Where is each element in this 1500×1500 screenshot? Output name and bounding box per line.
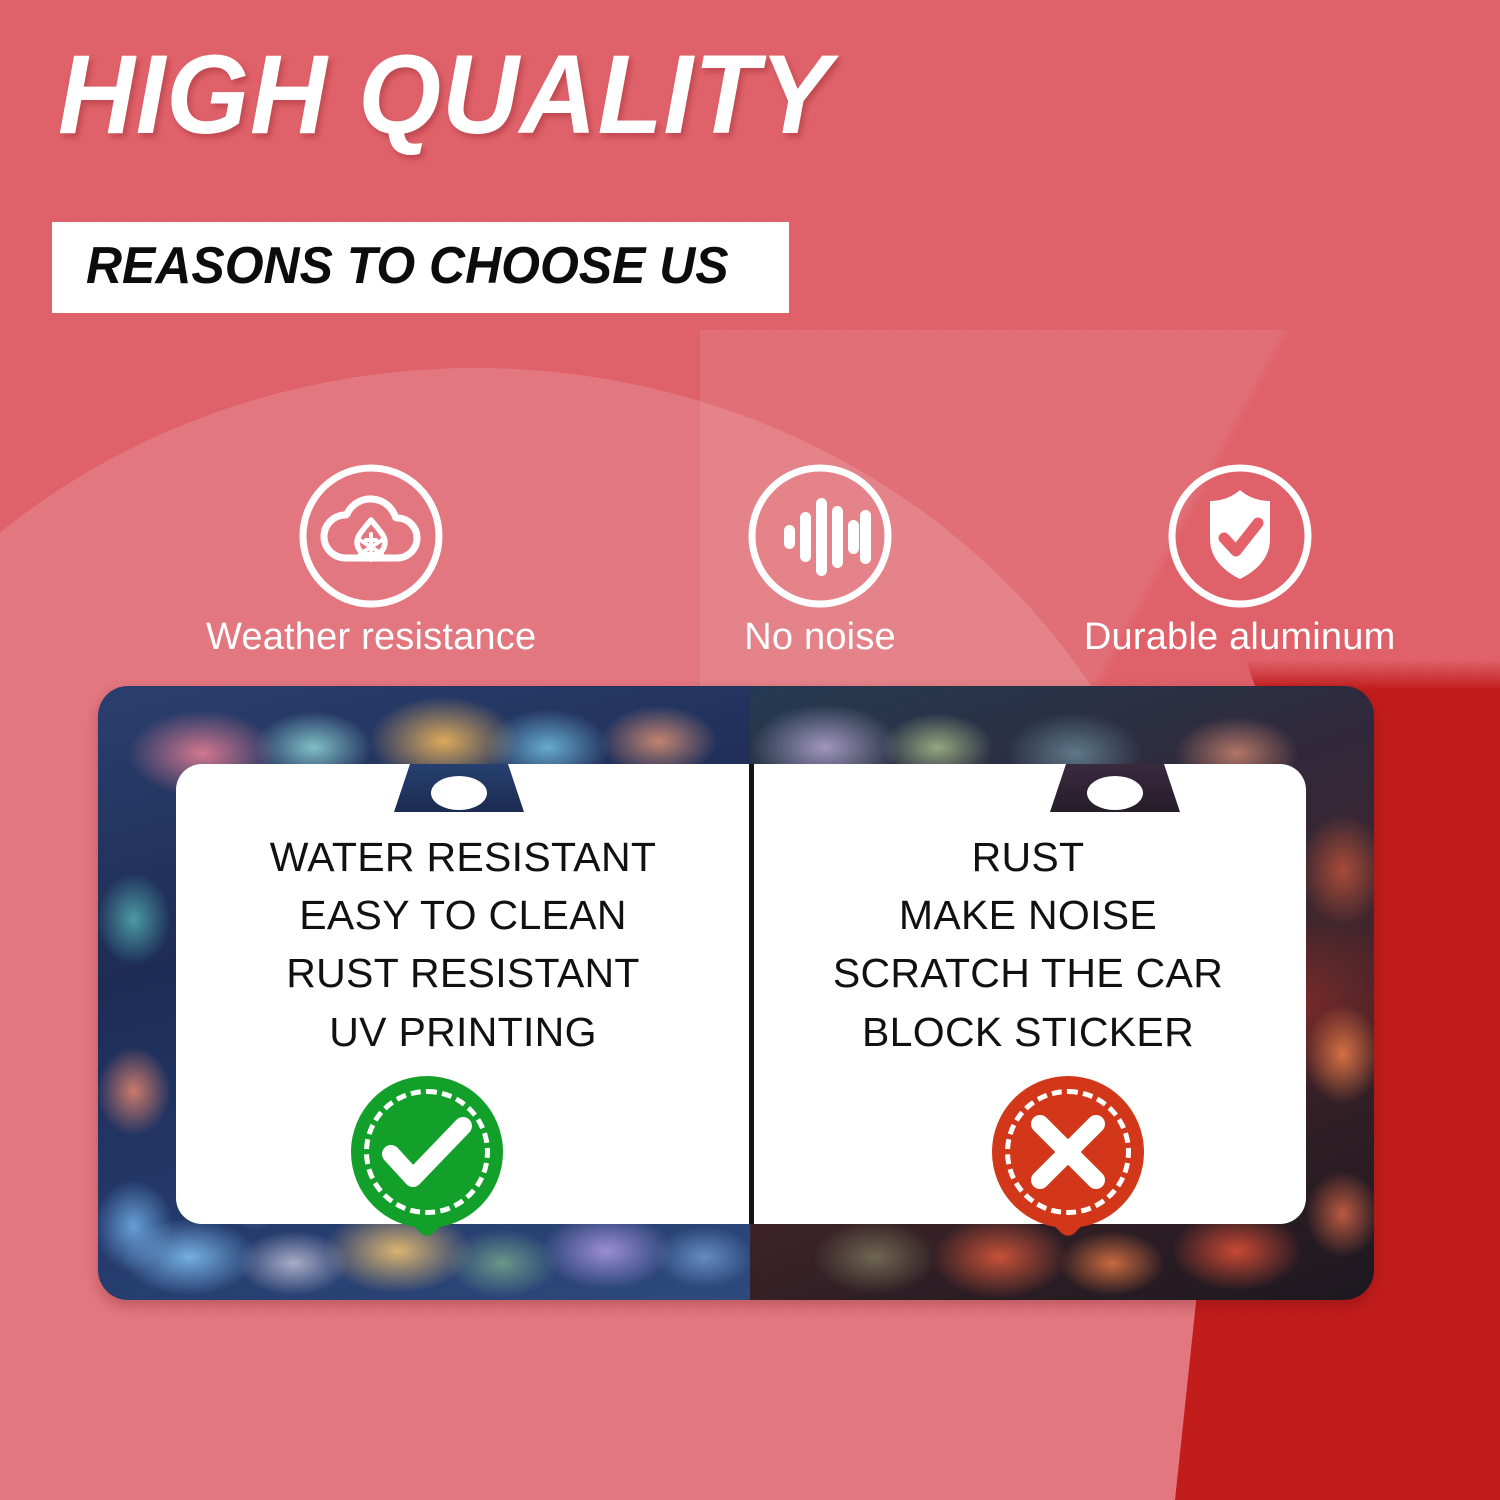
sound-wave-icon [746, 462, 894, 610]
list-item: SCRATCH THE CAR [778, 944, 1278, 1002]
feature-durable-aluminum: Durable aluminum [1084, 462, 1396, 659]
license-plate-frame-product: WATER RESISTANT EASY TO CLEAN RUST RESIS… [98, 686, 1374, 1300]
check-mark-badge [351, 1076, 503, 1228]
page-title: HIGH QUALITY [58, 36, 832, 154]
list-item: BLOCK STICKER [778, 1003, 1278, 1061]
cloud-droplet-snowflake-icon [297, 462, 445, 610]
subtitle-text: REASONS TO CHOOSE US [86, 238, 729, 295]
cross-mark-badge [992, 1076, 1144, 1228]
list-item: MAKE NOISE [778, 886, 1278, 944]
mounting-hole-left [431, 776, 487, 810]
comparison-divider [749, 764, 754, 1224]
list-item: RUST [778, 828, 1278, 886]
list-item: EASY TO CLEAN [198, 886, 728, 944]
mounting-hole-right [1087, 776, 1143, 810]
feature-no-noise: No noise [744, 462, 896, 659]
feature-row: Weather resistance No noise [120, 462, 1390, 672]
check-icon [351, 1076, 503, 1228]
subtitle-banner: REASONS TO CHOOSE US [52, 222, 789, 313]
cross-icon [992, 1076, 1144, 1228]
shield-check-icon [1166, 462, 1314, 610]
list-item: RUST RESISTANT [198, 944, 728, 1002]
product-infographic: HIGH QUALITY REASONS TO CHOOSE US [0, 0, 1500, 1500]
list-item: WATER RESISTANT [198, 828, 728, 886]
pros-list: WATER RESISTANT EASY TO CLEAN RUST RESIS… [198, 828, 728, 1061]
feature-label: Durable aluminum [1084, 616, 1396, 659]
feature-label: Weather resistance [206, 616, 536, 659]
cons-list: RUST MAKE NOISE SCRATCH THE CAR BLOCK ST… [778, 828, 1278, 1061]
feature-label: No noise [744, 616, 896, 659]
feature-weather-resistance: Weather resistance [206, 462, 536, 659]
list-item: UV PRINTING [198, 1003, 728, 1061]
